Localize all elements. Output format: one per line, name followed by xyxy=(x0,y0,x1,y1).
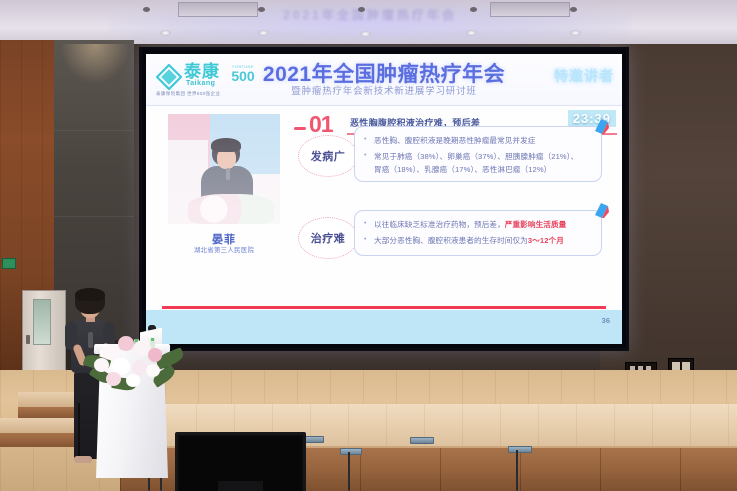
section-number: 01 xyxy=(309,111,333,138)
ceiling-speaker-4 xyxy=(470,7,477,12)
invited-speaker-badge: 特邀讲者 xyxy=(554,66,614,86)
speaker-video-feed xyxy=(168,114,280,224)
floor-cable-1 xyxy=(348,452,350,491)
slide-subtitle: 暨肿瘤热疗年会新技术新进展学习研讨班 xyxy=(146,83,622,97)
content-box-treatment: • 以往临床缺乏标准治疗药物，预后差，严重影响生活质量 • 大部分恶性胸、腹腔积… xyxy=(354,210,602,256)
downlight-3 xyxy=(360,31,371,37)
bullet-text-highlight: 严重影响生活质量 xyxy=(505,220,567,229)
bullet-text-1: 恶性胸、腹腔积液是晚期恶性肿瘤最常见并发症 xyxy=(374,135,536,146)
bullet-text-2: 常见于肺癌（38%）、卵巢癌（37%）、胆胰腺肿瘤（21%）、 xyxy=(374,151,578,162)
slide-page-number: 36 xyxy=(602,316,610,325)
lecture-hall-scene: 2021年全国肿瘤热疗年会 xyxy=(0,0,737,491)
bullet-text-2: 大部分恶性胸、腹腔积液患者的生存时间仅为3～12个月 xyxy=(374,235,564,246)
bullet-text-3: 胃癌（18%）、乳腺癌（17%）、恶性淋巴瘤（12%） xyxy=(374,164,551,175)
ceiling-speaker-3 xyxy=(358,7,365,12)
downlight-5 xyxy=(570,30,581,36)
exit-sign xyxy=(2,258,16,269)
downlight-1 xyxy=(160,30,171,36)
side-door[interactable] xyxy=(22,290,66,374)
bullet-dot: • xyxy=(364,219,366,229)
door-window xyxy=(33,299,51,345)
content-box-incidence: • 恶性胸、腹腔积液是晚期恶性肿瘤最常见并发症 • 常见于肺癌（38%）、卵巢癌… xyxy=(354,126,602,182)
block-label-incidence: 发病广 xyxy=(298,135,358,177)
confidence-monitor xyxy=(175,432,306,491)
slide-footer-rule xyxy=(162,306,606,309)
ribbon-flag-icon xyxy=(594,202,609,218)
speaker-organization: 湖北省第三人民医院 xyxy=(168,244,280,254)
section-dash xyxy=(294,127,306,130)
monitor-stand xyxy=(218,481,263,491)
floor-outlet-4 xyxy=(508,446,532,453)
floor-cable-2 xyxy=(516,450,518,491)
wall-spotlight xyxy=(60,44,130,84)
bullet-dot: • xyxy=(364,151,366,161)
bullet-text-highlight: 3～12个月 xyxy=(528,236,564,245)
downlight-4 xyxy=(466,30,477,36)
downlight-2 xyxy=(258,30,269,36)
ceiling-speaker-5 xyxy=(570,7,577,12)
flower-arrangement xyxy=(82,322,186,394)
presentation-slide: 泰康 Taikang FORTUNE 500 泰康保险集团 世界500强企业 2… xyxy=(146,54,622,344)
bullet-text-plain: 以往临床缺乏标准治疗药物，预后差， xyxy=(374,220,505,229)
ceiling-speaker-2 xyxy=(258,7,265,12)
floor-outlet-3 xyxy=(410,437,434,444)
bullet-dot: • xyxy=(364,235,366,245)
block-label-treatment: 治疗难 xyxy=(298,217,358,259)
floor-outlet-2 xyxy=(340,448,362,455)
bullet-text-1: 以往临床缺乏标准治疗药物，预后差，严重影响生活质量 xyxy=(374,219,566,230)
ceiling-speaker-1 xyxy=(143,7,150,12)
slide-footer-band xyxy=(146,310,622,344)
slide-header-rule xyxy=(146,105,622,106)
door-handle[interactable] xyxy=(26,335,30,344)
ceiling-vent-left xyxy=(178,2,258,17)
projection-screen: 泰康 Taikang FORTUNE 500 泰康保险集团 世界500强企业 2… xyxy=(139,47,629,351)
bullet-text-plain: 大部分恶性胸、腹腔积液患者的生存时间仅为 xyxy=(374,236,528,245)
bullet-dot: • xyxy=(364,135,366,145)
ribbon-flag-icon xyxy=(594,118,609,134)
ceiling-vent-right xyxy=(490,2,570,17)
